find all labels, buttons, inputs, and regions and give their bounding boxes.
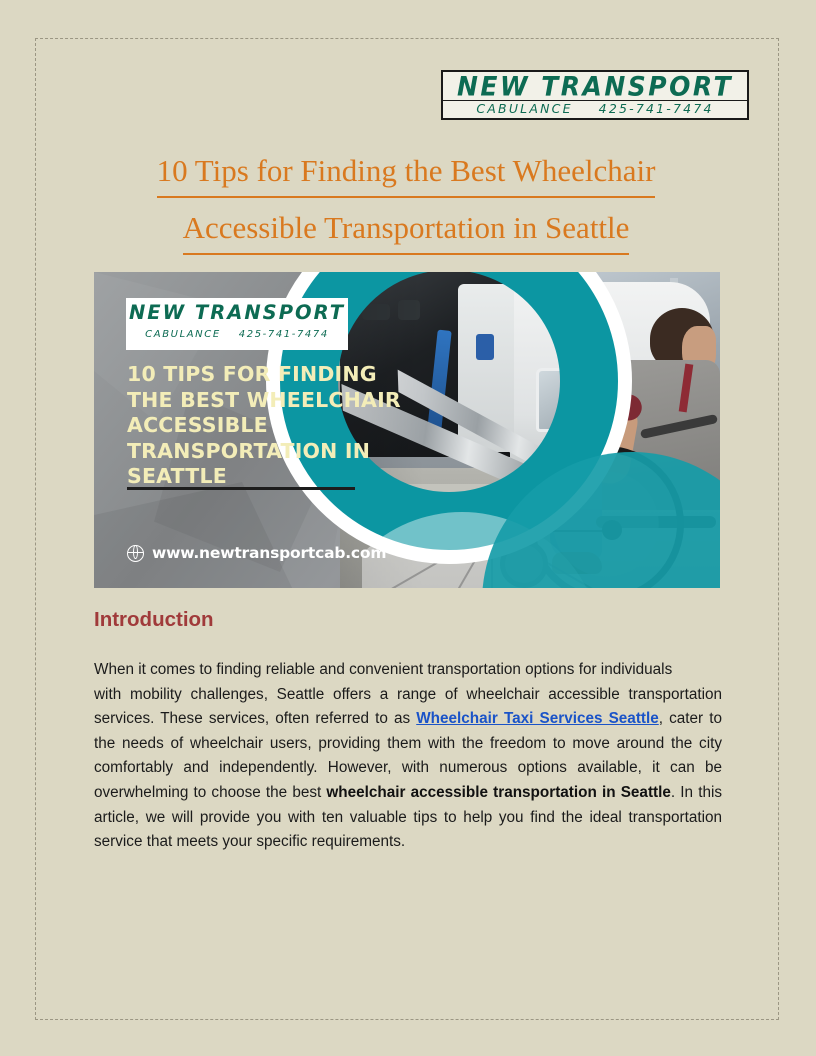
banner-company-logo: NEW TRANSPORT CABULANCE 425-741-7474 <box>126 298 348 350</box>
header-logo-company-name: NEW TRANSPORT <box>443 71 747 100</box>
banner-logo-company-name: NEW TRANSPORT <box>126 298 348 328</box>
introduction-body-text: When it comes to finding reliable and co… <box>94 658 722 855</box>
globe-icon <box>127 545 144 562</box>
page-title-line-2: Accessible Transportation in Seattle <box>96 209 716 255</box>
banner-headline: 10 TIPS FOR FINDING THE BEST WHEELCHAIR … <box>127 362 402 490</box>
page-title-line-1: 10 Tips for Finding the Best Wheelchair <box>96 152 716 198</box>
banner-website-url: www.newtransportcab.com <box>127 544 386 562</box>
banner-divider-rule <box>127 487 355 490</box>
banner-logo-service-label: CABULANCE <box>145 328 221 342</box>
intro-bold-phrase: wheelchair accessible transportation in … <box>326 784 671 801</box>
page-title-line-2-text: Accessible Transportation in Seattle <box>183 209 630 255</box>
header-company-logo: NEW TRANSPORT CABULANCE 425-741-7474 <box>441 70 749 120</box>
banner-logo-phone: 425-741-7474 <box>239 328 329 342</box>
page-title-line-1-text: 10 Tips for Finding the Best Wheelchair <box>157 152 656 198</box>
header-logo-subrow: CABULANCE 425-741-7474 <box>443 100 747 116</box>
header-logo-phone: 425-741-7474 <box>599 101 714 116</box>
banner-url-text: www.newtransportcab.com <box>152 544 386 562</box>
intro-paragraph-first-line: When it comes to finding reliable and co… <box>94 658 722 683</box>
section-heading-introduction: Introduction <box>94 608 214 632</box>
banner-lower-shapes <box>362 272 720 588</box>
intro-paragraph-remainder: with mobility challenges, Seattle offers… <box>94 683 722 855</box>
banner-logo-subrow: CABULANCE 425-741-7474 <box>126 328 348 342</box>
page-title: 10 Tips for Finding the Best Wheelchair … <box>96 152 716 255</box>
banner-teal-blob <box>482 452 720 588</box>
header-logo-service-label: CABULANCE <box>476 101 572 116</box>
wheelchair-taxi-services-seattle-link[interactable]: Wheelchair Taxi Services Seattle <box>416 710 659 727</box>
article-banner-image: NEW TRANSPORT CABULANCE 425-741-7474 10 … <box>94 272 720 588</box>
